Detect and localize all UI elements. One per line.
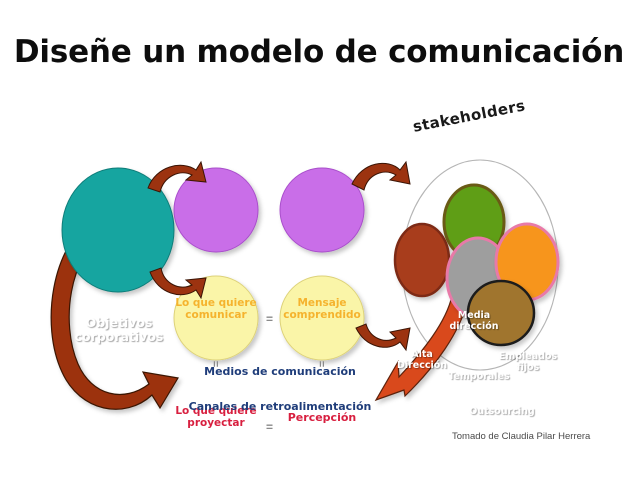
circle-alta-direccion[interactable]: [395, 224, 449, 296]
slide-canvas: Diseñe un modelo de comunicación: [0, 0, 638, 479]
circle-outsourcing[interactable]: [468, 281, 534, 345]
circle-lo-que-quiere-comunicar[interactable]: [174, 168, 258, 252]
equals-sign-right: =: [315, 361, 327, 367]
equals-sign-left: =: [209, 361, 221, 367]
equals-sign-top: =: [266, 312, 273, 326]
circle-percepcion[interactable]: [280, 276, 364, 360]
attribution-text: Tomado de Claudia Pilar Herrera: [452, 431, 632, 442]
connector-arrow-stakeholders-to-percepcion: [356, 324, 410, 350]
stakeholders-feedback-arrow: [376, 296, 468, 400]
circle-mensaje-comprendido[interactable]: [280, 168, 364, 252]
communication-model-diagram: Objetivos corporativos Lo que quiere com…: [0, 100, 638, 460]
connector-arrow-core-to-proyectar: [150, 268, 206, 298]
equals-sign-bottom: =: [266, 420, 273, 434]
page-title: Diseñe un modelo de comunicación: [0, 34, 638, 70]
diagram-svg: [0, 100, 638, 460]
connector-arrow-mensaje-to-stakeholders: [352, 162, 410, 190]
